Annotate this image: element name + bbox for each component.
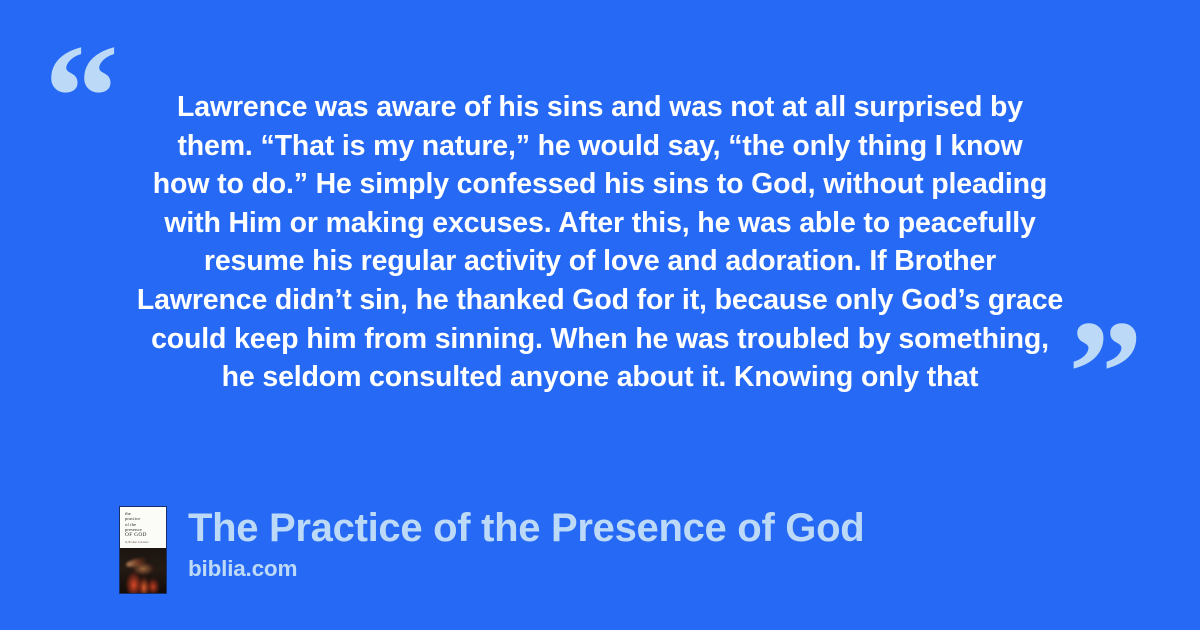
quote-card: “ Lawrence was aware of his sins and was… bbox=[0, 0, 1200, 630]
book-cover-title-line-5: OF GOD bbox=[125, 533, 162, 538]
attribution-text: The Practice of the Presence of God bibl… bbox=[188, 506, 864, 582]
attribution-footer: the practice of the presence OF GOD by B… bbox=[119, 506, 864, 594]
book-cover-title-lines: the practice of the presence OF GOD bbox=[125, 511, 162, 538]
quote-block: Lawrence was aware of his sins and was n… bbox=[104, 88, 1096, 397]
closing-quote-icon: ” bbox=[1068, 298, 1143, 448]
quote-text: Lawrence was aware of his sins and was n… bbox=[104, 88, 1096, 397]
book-cover-thumbnail: the practice of the presence OF GOD by B… bbox=[119, 506, 167, 594]
book-title: The Practice of the Presence of God bbox=[188, 506, 864, 550]
book-cover-author: by Brother Lawrence bbox=[125, 541, 162, 544]
site-url[interactable]: biblia.com bbox=[188, 556, 864, 582]
book-cover-title-area: the practice of the presence OF GOD by B… bbox=[120, 507, 166, 548]
book-cover-photo bbox=[120, 548, 166, 593]
